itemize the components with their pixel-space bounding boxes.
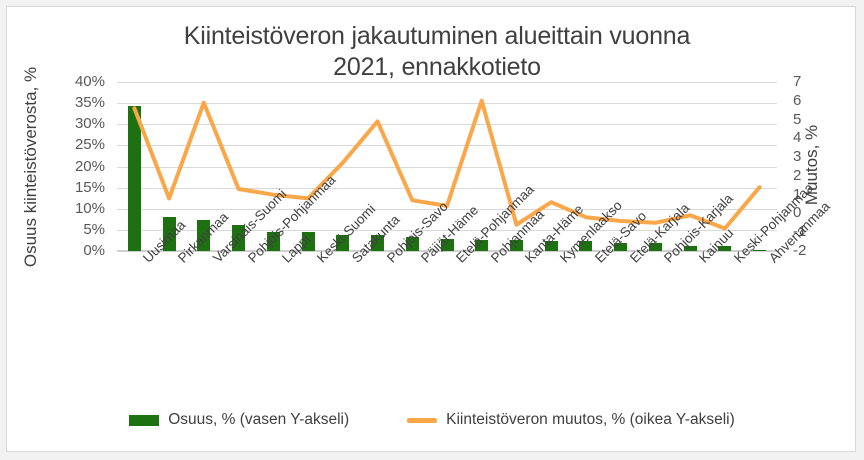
category-label: Pohjanmaa xyxy=(488,255,499,266)
legend-label-muutos: Kiinteistöveron muutos, % (oikea Y-aksel… xyxy=(446,411,735,429)
right-tick-label: 3 xyxy=(793,148,833,165)
category-label: Satakunta xyxy=(349,255,360,266)
chart-title-line-2: 2021, ennakkotieto xyxy=(117,52,757,83)
left-tick-label: 30% xyxy=(45,115,105,132)
category-label: Pohjois-Pohjanmaa xyxy=(245,255,256,266)
chart-legend: Osuus, % (vasen Y-akseli) Kiinteistövero… xyxy=(7,411,857,429)
legend-item-muutos: Kiinteistöveron muutos, % (oikea Y-aksel… xyxy=(407,411,735,429)
category-label: Lappi xyxy=(279,255,290,266)
category-label: Kymenlaakso xyxy=(557,255,568,266)
left-tick-label: 35% xyxy=(45,94,105,111)
category-label: Varsinais-Suomi xyxy=(210,255,221,266)
legend-line-swatch-icon xyxy=(407,418,437,423)
category-axis-labels: UusimaaPirkanmaaVarsinais-SuomiPohjois-P… xyxy=(117,255,777,385)
category-label: Pohjois-Savo xyxy=(384,255,395,266)
left-tick-label: 10% xyxy=(45,200,105,217)
left-tick-label: 20% xyxy=(45,158,105,175)
left-tick-label: 40% xyxy=(45,73,105,90)
category-label: Ahvenanmaa xyxy=(766,255,777,266)
right-tick-label: 5 xyxy=(793,111,833,128)
chart-title-line-1: Kiinteistöveron jakautuminen alueittain … xyxy=(117,21,757,52)
category-label: Kainuu xyxy=(696,255,707,266)
category-label: Etelä-Savo xyxy=(592,255,603,266)
chart-card: Kiinteistöveron jakautuminen alueittain … xyxy=(6,6,856,452)
right-tick-label: 2 xyxy=(793,167,833,184)
chart-title: Kiinteistöveron jakautuminen alueittain … xyxy=(117,21,757,83)
category-label: Kanta-Häme xyxy=(522,255,533,266)
category-label: Keski-Suomi xyxy=(314,255,325,266)
legend-label-osuus: Osuus, % (vasen Y-akseli) xyxy=(168,411,349,429)
right-tick-label: 7 xyxy=(793,73,833,90)
category-label: Keski-Pohjanmaa xyxy=(731,255,742,266)
left-tick-label: 5% xyxy=(45,221,105,238)
right-tick-label: -2 xyxy=(793,242,833,259)
legend-item-osuus: Osuus, % (vasen Y-akseli) xyxy=(129,411,349,429)
legend-bar-swatch-icon xyxy=(129,415,159,426)
left-tick-label: 15% xyxy=(45,179,105,196)
category-label: Pohjois-Karjala xyxy=(661,255,672,266)
category-label: Päijät-Häme xyxy=(418,255,429,266)
left-tick-label: 25% xyxy=(45,136,105,153)
category-label: Pirkanmaa xyxy=(175,255,186,266)
left-tick-label: 0% xyxy=(45,242,105,259)
category-label: Etelä-Karjala xyxy=(627,255,638,266)
right-tick-label: 6 xyxy=(793,92,833,109)
category-label: Etelä-Pohjanmaa xyxy=(453,255,464,266)
right-tick-label: 4 xyxy=(793,129,833,146)
left-axis-title: Osuus kiinteistöverosta, % xyxy=(21,57,41,277)
category-label: Uusimaa xyxy=(140,255,151,266)
